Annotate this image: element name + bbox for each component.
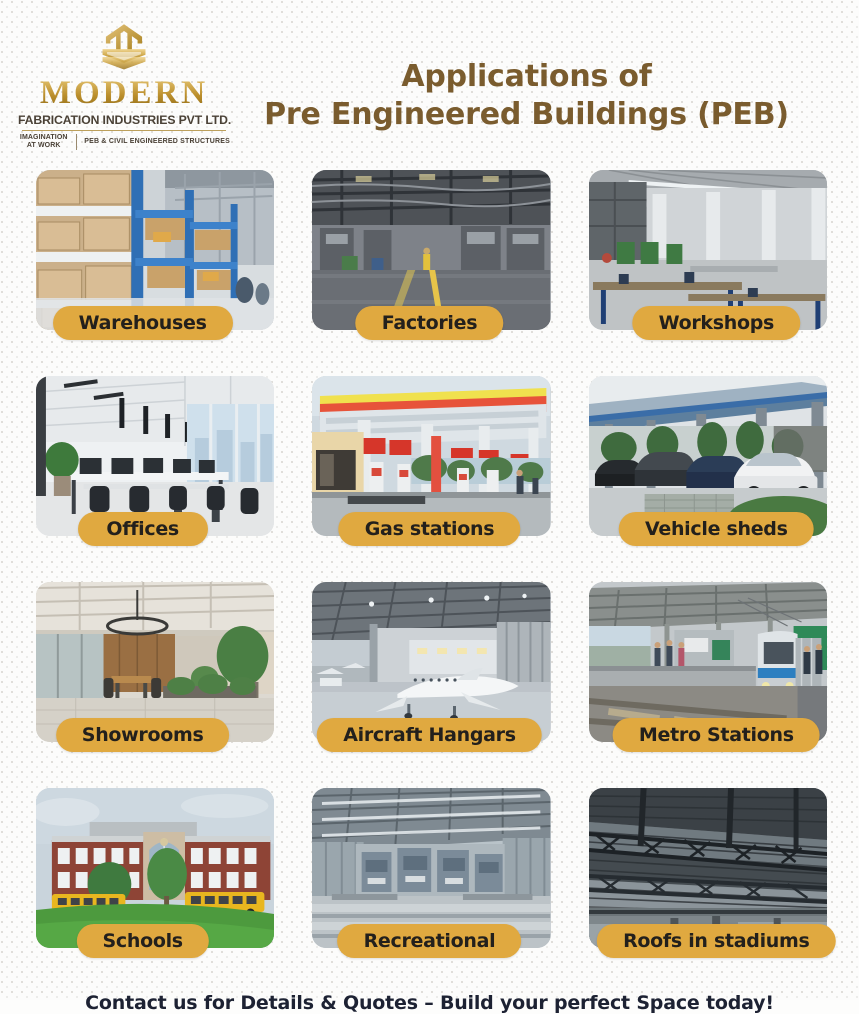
footer-cta-text: Contact us for Details & Quotes – Build … [0,992,859,1014]
card-label-pill[interactable]: Vehicle sheds [619,512,814,546]
application-card[interactable]: Warehouses [22,160,284,358]
brand-tagline-left-line2: AT WORK [18,142,69,150]
brand-tagline-left: IMAGINATION AT WORK [18,134,69,150]
card-label: Roofs in stadiums [623,930,809,952]
application-card[interactable]: Gas stations [298,366,560,564]
application-card[interactable]: Offices [22,366,284,564]
card-label: Factories [382,312,477,334]
brand-divider-rule [22,130,226,131]
card-label-pill[interactable]: Showrooms [56,718,230,752]
brand-name: MODERN [18,76,230,111]
card-label: Recreational [364,930,496,952]
brand-tagline-left-line1: IMAGINATION [18,134,69,142]
application-card[interactable]: Vehicle sheds [575,366,837,564]
card-label-pill[interactable]: Workshops [633,306,800,340]
card-label-pill[interactable]: Offices [78,512,208,546]
page-title-line2: Pre Engineered Buildings (PEB) [230,96,823,134]
application-card[interactable]: Factories [298,160,560,358]
card-label: Workshops [659,312,774,334]
card-label: Offices [106,518,179,540]
card-label: Gas stations [365,518,494,540]
brand-logo: MODERN FABRICATION INDUSTRIES PVT LTD. I… [18,18,230,150]
footer: Contact us for Details & Quotes – Build … [0,976,859,1014]
vertical-divider-icon [76,134,77,150]
poster-page: MODERN FABRICATION INDUSTRIES PVT LTD. I… [0,0,859,1000]
application-card[interactable]: Aircraft Hangars [298,572,560,770]
card-label-pill[interactable]: Warehouses [53,306,233,340]
applications-grid: Warehouses [0,160,859,976]
card-label: Schools [103,930,183,952]
card-label: Metro Stations [639,724,794,746]
header: MODERN FABRICATION INDUSTRIES PVT LTD. I… [0,0,859,160]
card-label: Warehouses [79,312,207,334]
application-card[interactable]: Showrooms [22,572,284,770]
card-label-pill[interactable]: Factories [356,306,503,340]
application-card[interactable]: Workshops [575,160,837,358]
card-label-pill[interactable]: Gas stations [339,512,520,546]
card-label-pill[interactable]: Schools [77,924,209,958]
application-card[interactable]: Schools [22,778,284,976]
card-label-pill[interactable]: Aircraft Hangars [317,718,542,752]
card-label: Showrooms [82,724,204,746]
page-title-line1: Applications of [230,58,823,96]
application-card[interactable]: Roofs in stadiums [575,778,837,976]
card-label-pill[interactable]: Recreational [338,924,522,958]
card-label-pill[interactable]: Roofs in stadiums [597,924,835,958]
card-label-pill[interactable]: Metro Stations [613,718,820,752]
card-label: Vehicle sheds [645,518,788,540]
hexagon-monogram-icon [18,22,230,74]
card-label: Aircraft Hangars [343,724,516,746]
application-card[interactable]: Metro Stations [575,572,837,770]
brand-legal-name: FABRICATION INDUSTRIES PVT LTD. [18,113,230,127]
brand-tagline-right: PEB & CIVIL ENGINEERED STRUCTURES [84,138,230,146]
application-card[interactable]: Recreational [298,778,560,976]
brand-tagline-row: IMAGINATION AT WORK PEB & CIVIL ENGINEER… [18,134,230,150]
page-title: Applications of Pre Engineered Buildings… [230,18,833,135]
